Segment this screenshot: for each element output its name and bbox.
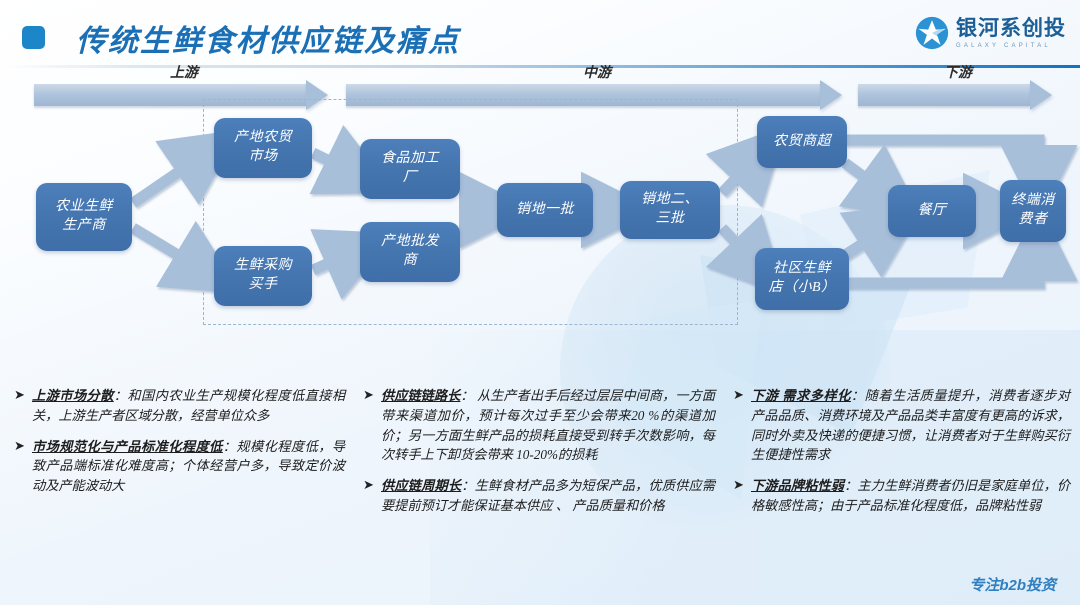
flow-node-primary-wholesale[interactable]: 销地一批 xyxy=(497,183,593,237)
pain-points-section: ➤ 上游市场分散：和国内农业生产规模化程度低直接相关，上游生产者区域分散，经营单… xyxy=(0,386,1080,586)
stage-band-label: 中游 xyxy=(346,62,848,82)
flow-node-buyer[interactable]: 生鲜采购买手 xyxy=(214,246,312,306)
stage-band-downstream: 下游 xyxy=(858,84,1058,106)
bullet-lead: 下游 需求多样化 xyxy=(751,388,851,403)
flow-node-restaurant[interactable]: 餐厅 xyxy=(888,185,976,237)
flow-node-secondary-wholesale[interactable]: 销地二、三批 xyxy=(620,181,720,239)
chevron-right-icon: ➤ xyxy=(14,437,32,496)
flow-node-supermarket[interactable]: 农贸商超 xyxy=(757,116,847,168)
bullet-lead: 供应链链路长 xyxy=(381,388,460,403)
chevron-right-icon: ➤ xyxy=(14,386,32,426)
pain-points-column-upstream: ➤ 上游市场分散：和国内农业生产规模化程度低直接相关，上游生产者区域分散，经营单… xyxy=(0,386,355,586)
stage-band-arrow-icon xyxy=(820,80,842,110)
slide-root: 传统生鲜食材供应链及痛点 银河系创投 GALAXY CAPITAL 上游 中游 … xyxy=(0,0,1080,605)
galaxy-star-icon xyxy=(915,16,949,50)
stage-band-body xyxy=(858,84,1030,106)
stage-band-label: 下游 xyxy=(858,62,1058,82)
page-title: 传统生鲜食材供应链及痛点 xyxy=(76,16,460,60)
list-item: ➤ 上游市场分散：和国内农业生产规模化程度低直接相关，上游生产者区域分散，经营单… xyxy=(14,386,345,426)
bullet-lead: 下游品牌粘性弱 xyxy=(751,478,844,493)
pain-points-column-downstream: ➤ 下游 需求多样化：随着生活质量提升，消费者逐步对产品品质、消费环境及产品品类… xyxy=(725,386,1080,586)
footer-tagline: 专注b2b投资 xyxy=(969,574,1056,595)
list-item: ➤ 供应链链路长： 从生产者出手后经过层层中间商，一方面带来渠道加价，预计每次过… xyxy=(363,386,715,465)
chevron-right-icon: ➤ xyxy=(363,386,381,465)
flow-node-origin-market[interactable]: 产地农贸市场 xyxy=(214,118,312,178)
list-item: ➤ 下游 需求多样化：随着生活质量提升，消费者逐步对产品品质、消费环境及产品品类… xyxy=(733,386,1070,465)
chevron-right-icon: ➤ xyxy=(733,476,751,516)
bullet-lead: 供应链周期长 xyxy=(381,478,461,493)
logo-name-en: GALAXY CAPITAL xyxy=(956,43,1066,49)
flow-node-consumer[interactable]: 终端消费者 xyxy=(1000,180,1066,242)
list-item: ➤ 市场规范化与产品标准化程度低：规模化程度低，导致产品端标准化难度高；个体经营… xyxy=(14,437,345,496)
chevron-right-icon: ➤ xyxy=(363,476,381,516)
flow-node-producer[interactable]: 农业生鲜生产商 xyxy=(36,183,132,251)
flow-node-community-shop[interactable]: 社区生鲜店（小B） xyxy=(755,248,849,310)
list-item: ➤ 供应链周期长：生鲜食材产品多为短保产品，优质供应需要提前预订才能保证基本供应… xyxy=(363,476,715,516)
logo-name-cn: 银河系创投 xyxy=(956,18,1066,39)
stage-band-arrow-icon xyxy=(1030,80,1052,110)
stage-band-label: 上游 xyxy=(34,62,334,82)
flow-node-food-factory[interactable]: 食品加工厂 xyxy=(360,139,460,199)
flow-node-origin-wholesaler[interactable]: 产地批发商 xyxy=(360,222,460,282)
pain-points-column-midstream: ➤ 供应链链路长： 从生产者出手后经过层层中间商，一方面带来渠道加价，预计每次过… xyxy=(355,386,725,586)
chevron-right-icon: ➤ xyxy=(733,386,751,465)
brand-logo: 银河系创投 GALAXY CAPITAL xyxy=(915,16,1066,50)
bullet-lead: 市场规范化与产品标准化程度低 xyxy=(32,439,223,454)
bullet-lead: 上游市场分散 xyxy=(32,388,114,403)
title-bullet-square-icon xyxy=(22,26,45,49)
list-item: ➤ 下游品牌粘性弱：主力生鲜消费者仍旧是家庭单位，价格敏感性高；由于产品标准化程… xyxy=(733,476,1070,516)
